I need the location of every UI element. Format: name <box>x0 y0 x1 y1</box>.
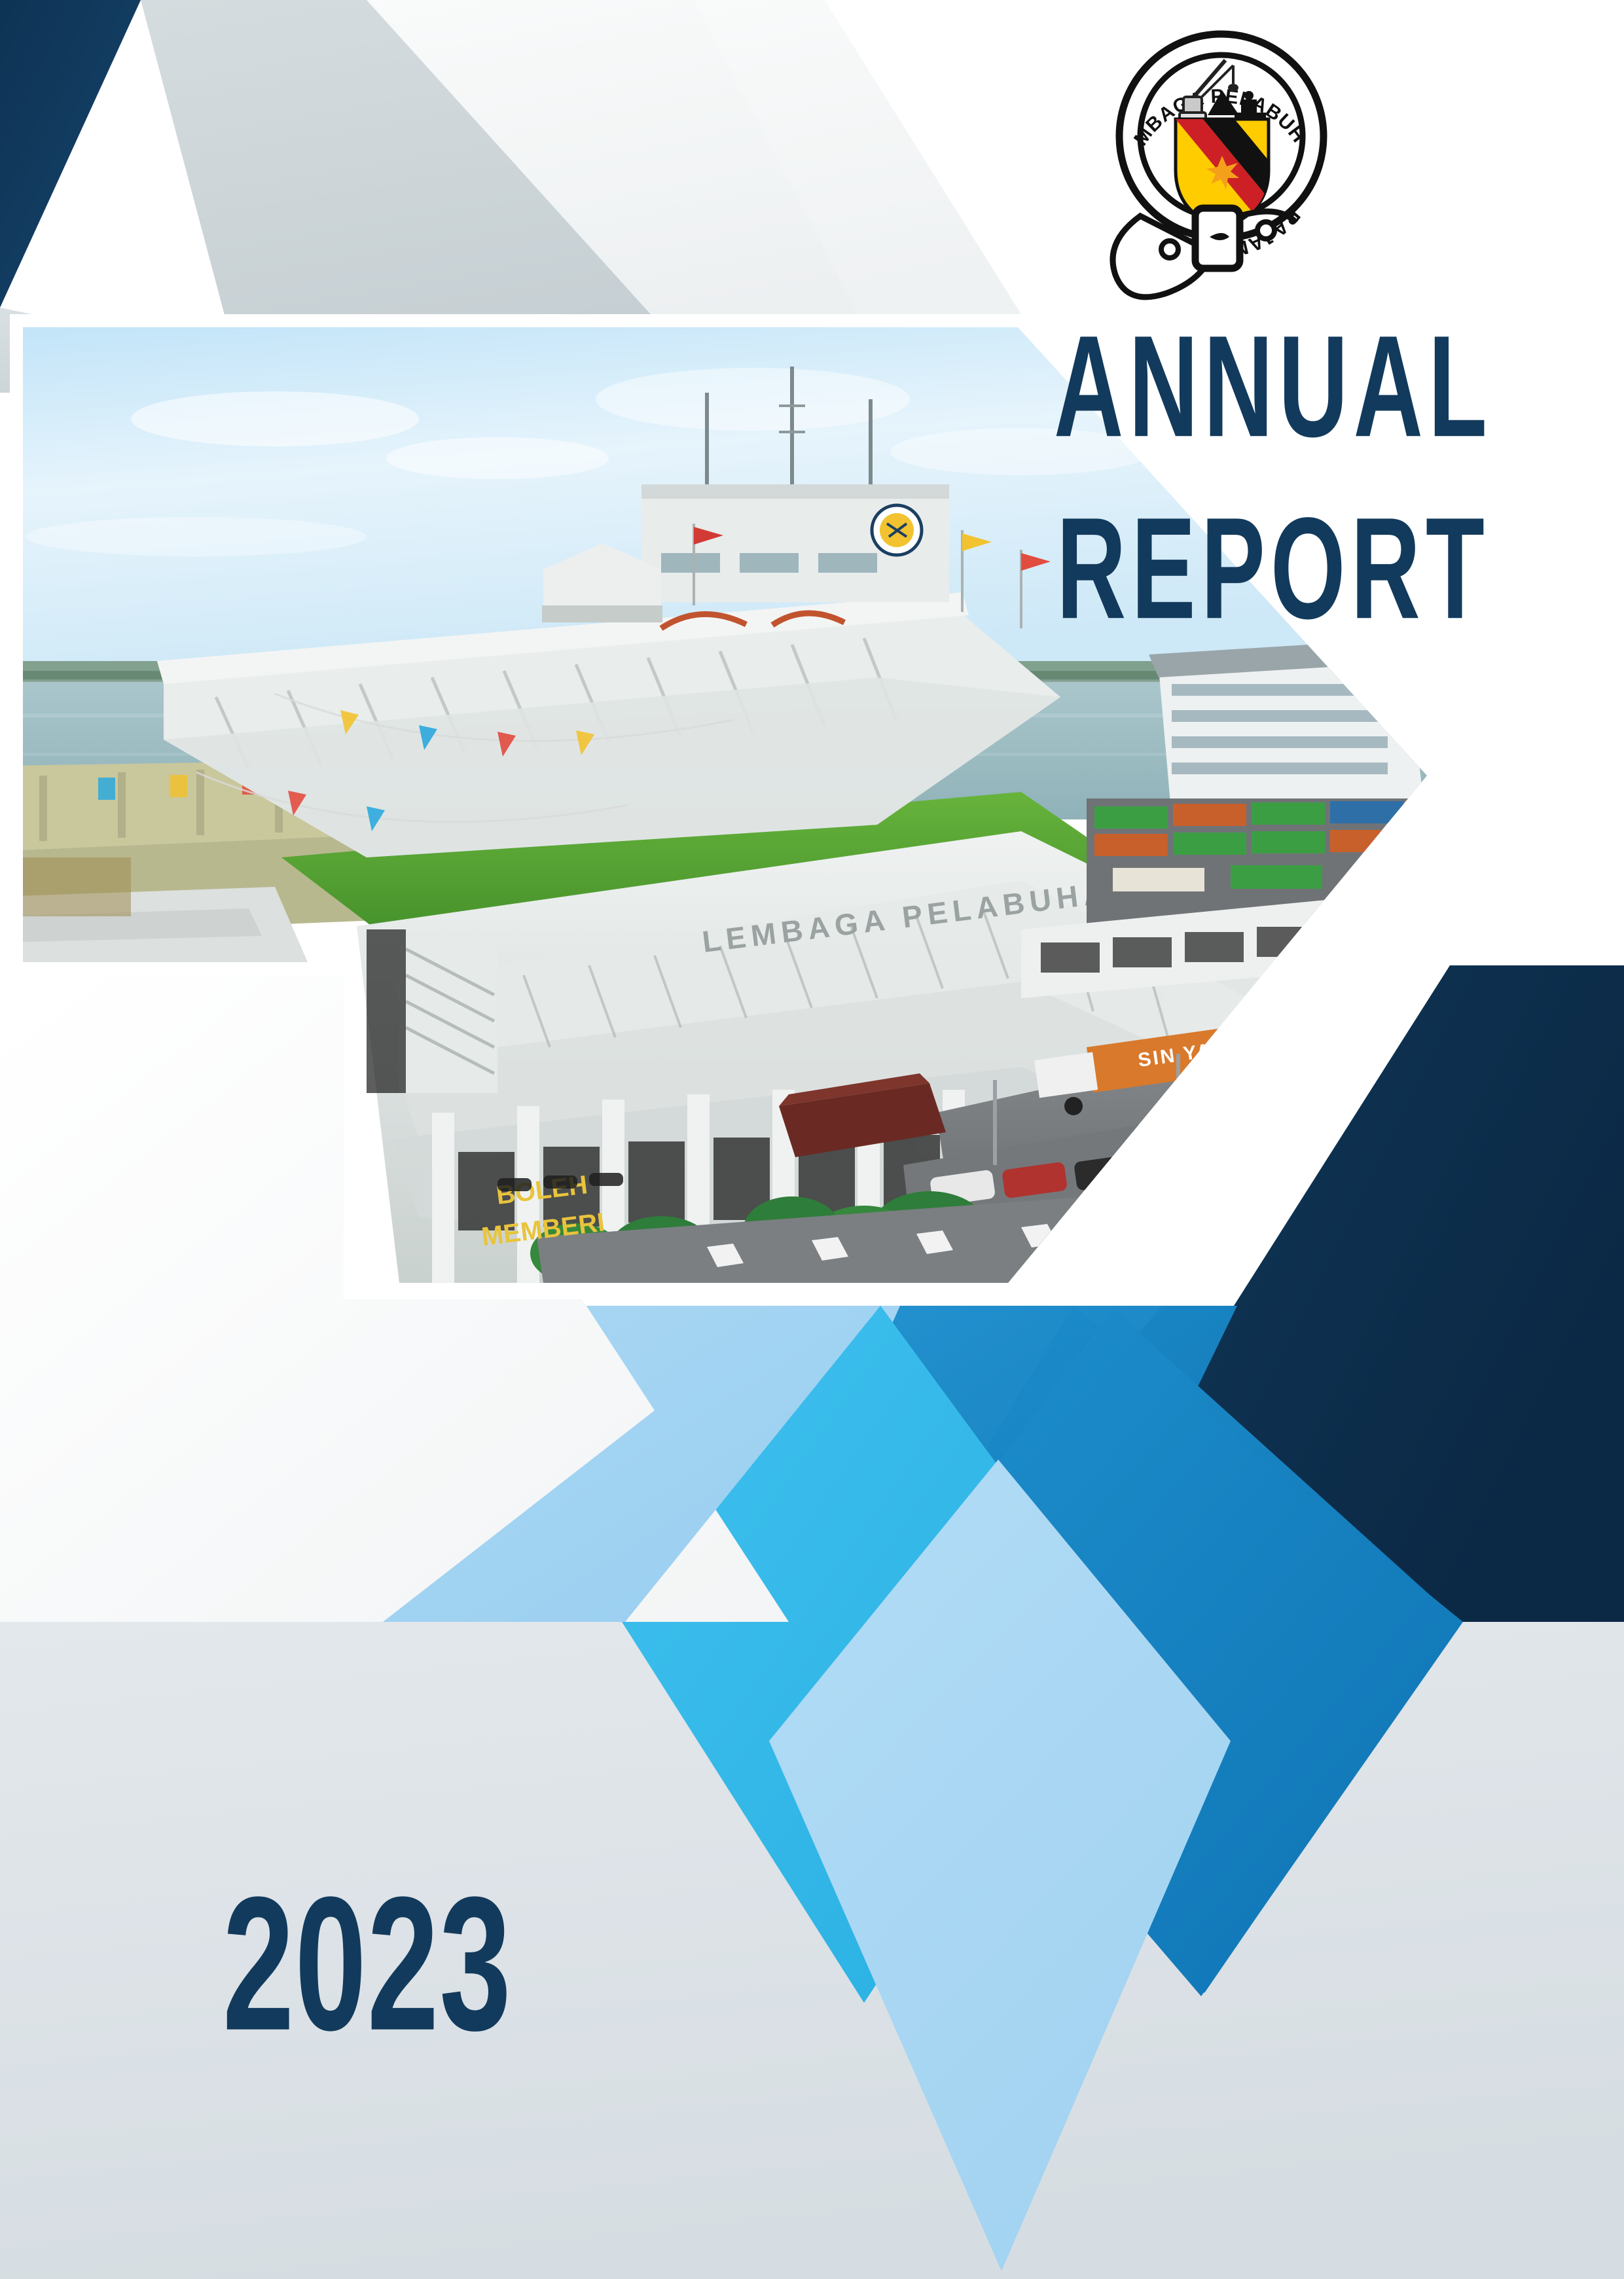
page-title-line-2: REPORT <box>969 496 1577 641</box>
report-year: 2023 <box>223 1869 512 2059</box>
page-title-line-1: ANNUAL <box>969 314 1577 459</box>
cover-title-block: ANNUAL REPORT <box>943 314 1604 601</box>
cover-year-block: 2023 <box>223 1869 524 2003</box>
logo-group: LEMBAGA PELABUHAN RAJANG <box>0 0 1324 297</box>
annual-report-cover-page: LEMBAGA PELABUHAN RAJANG <box>0 0 1624 2279</box>
logo-ring-text-top: LEMBAGA PELABUHAN <box>0 0 1310 150</box>
